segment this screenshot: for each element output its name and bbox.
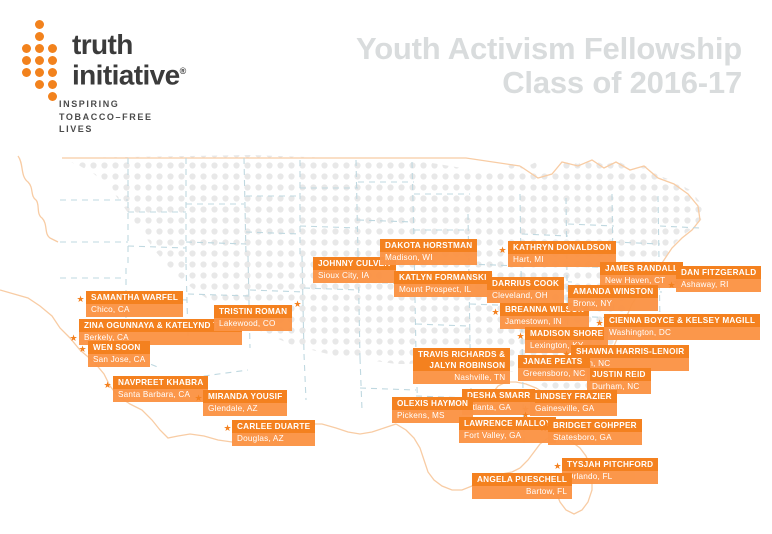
fellow-name: TYSJAH PITCHFORD: [562, 458, 658, 471]
fellow-name: NAVPREET KHABRA: [113, 376, 208, 389]
fellow-name: TRAVIS RICHARDS &: [413, 348, 510, 360]
fellow-name-line-2: JALYN ROBINSON: [413, 360, 510, 372]
fellow-city: Gainesville, GA: [530, 403, 617, 416]
fellow-name: DAN FITZGERALD: [676, 266, 761, 279]
brand-wordmark: truth initiative®: [72, 32, 186, 88]
fellow-name: KATLYN FORMANSKI: [394, 271, 492, 284]
tagline-line-3: LIVES: [59, 123, 153, 136]
fellow-label[interactable]: DAKOTA HORSTMANMadison, WI: [380, 239, 477, 265]
fellow-label[interactable]: TYSJAH PITCHFORDOrlando, FL: [562, 458, 658, 484]
fellow-label[interactable]: BRIDGET GOHPPERStatesboro, GA: [548, 419, 642, 445]
fellow-name: TRISTIN ROMAN: [214, 305, 292, 318]
brand-name-line-2-text: initiative: [72, 59, 180, 90]
fellow-name: JUSTIN REID: [587, 368, 651, 381]
fellow-label[interactable]: CARLEE DUARTEDouglas, AZ: [232, 420, 315, 446]
fellow-label[interactable]: WEN SOONSan Jose, CA: [88, 341, 150, 367]
fellow-city: Bronx, NY: [568, 298, 658, 311]
page-title-line-1: Youth Activism Fellowship: [356, 32, 742, 66]
fellow-label[interactable]: DAN FITZGERALDAshaway, RI: [676, 266, 761, 292]
fellow-city: Statesboro, GA: [548, 432, 642, 445]
orange-dot-matrix-logo-icon: [22, 20, 68, 86]
fellow-name: SAMANTHA WARFEL: [86, 291, 183, 304]
brand-name-line-2: initiative®: [72, 58, 186, 88]
map-container: ★SAMANTHA WARFELChico, CA★ZINA OGUNNAYA …: [0, 138, 772, 534]
fellow-name: OLEXIS HAYMON: [392, 397, 473, 410]
fellow-city: San Jose, CA: [88, 354, 150, 367]
fellow-city: Madison, WI: [380, 252, 477, 265]
fellow-city: Glendale, AZ: [203, 403, 287, 416]
fellow-name: CIENNA BOYCE & KELSEY MAGILL: [604, 314, 760, 327]
fellow-label[interactable]: ANGELA PUESCHELLBartow, FL: [472, 473, 572, 499]
page-title: Youth Activism Fellowship Class of 2016-…: [356, 32, 742, 100]
fellow-name: MADISON SHORE: [525, 327, 608, 340]
fellow-label[interactable]: DARRIUS COOKCleveland, OH: [487, 277, 564, 303]
fellow-city: Cleveland, OH: [487, 290, 564, 303]
fellow-label[interactable]: MIRANDA YOUSIFGlendale, AZ: [203, 390, 287, 416]
fellow-name: ANGELA PUESCHELL: [472, 473, 572, 486]
tagline-line-2: TOBACCO–FREE: [59, 111, 153, 124]
fellow-name: JAMES RANDALL: [600, 262, 683, 275]
fellow-name: LINDSEY FRAZIER: [530, 390, 617, 403]
fellow-name: BRIDGET GOHPPER: [548, 419, 642, 432]
fellow-label[interactable]: AMANDA WINSTONBronx, NY: [568, 285, 658, 311]
fellow-name: WEN SOON: [88, 341, 150, 354]
fellow-city: Nashville, TN: [413, 371, 510, 384]
fellow-city: Greensboro, NC: [518, 368, 590, 381]
fellow-label[interactable]: KATLYN FORMANSKIMount Prospect, IL: [394, 271, 492, 297]
fellow-city: Ashaway, RI: [676, 279, 761, 292]
fellow-name: AMANDA WINSTON: [568, 285, 658, 298]
brand-name-line-1: truth: [72, 32, 186, 58]
fellow-city: Sioux City, IA: [313, 270, 396, 283]
fellow-label[interactable]: LINDSEY FRAZIERGainesville, GA: [530, 390, 617, 416]
fellow-name: MIRANDA YOUSIF: [203, 390, 287, 403]
fellow-city: Chico, CA: [86, 304, 183, 317]
fellow-city: Orlando, FL: [562, 471, 658, 484]
fellow-city: Lakewood, CO: [214, 318, 292, 331]
brand-logo: truth initiative® INSPIRING TOBACCO–FREE…: [22, 18, 262, 128]
fellow-name: KATHRYN DONALDSON: [508, 241, 616, 254]
fellow-name: DARRIUS COOK: [487, 277, 564, 290]
tagline-line-1: INSPIRING: [59, 98, 153, 111]
fellow-city: Washington, DC: [604, 327, 760, 340]
fellow-label[interactable]: TRISTIN ROMANLakewood, CO: [214, 305, 292, 331]
fellow-label[interactable]: SAMANTHA WARFELChico, CA: [86, 291, 183, 317]
page-header: truth initiative® INSPIRING TOBACCO–FREE…: [0, 0, 772, 140]
fellow-city: Bartow, FL: [472, 486, 572, 499]
registered-trademark-icon: ®: [180, 66, 186, 76]
fellow-name: CARLEE DUARTE: [232, 420, 315, 433]
fellow-label[interactable]: CIENNA BOYCE & KELSEY MAGILLWashington, …: [604, 314, 760, 340]
fellow-label[interactable]: TRAVIS RICHARDS &JALYN ROBINSONNashville…: [413, 348, 510, 384]
fellow-label[interactable]: JANAE PEATSGreensboro, NC: [518, 355, 590, 381]
page-title-line-2: Class of 2016-17: [356, 66, 742, 100]
fellow-name: DAKOTA HORSTMAN: [380, 239, 477, 252]
fellow-name: JANAE PEATS: [518, 355, 590, 368]
fellow-city: Mount Prospect, IL: [394, 284, 492, 297]
brand-tagline: INSPIRING TOBACCO–FREE LIVES: [59, 98, 153, 136]
fellow-city: Douglas, AZ: [232, 433, 315, 446]
